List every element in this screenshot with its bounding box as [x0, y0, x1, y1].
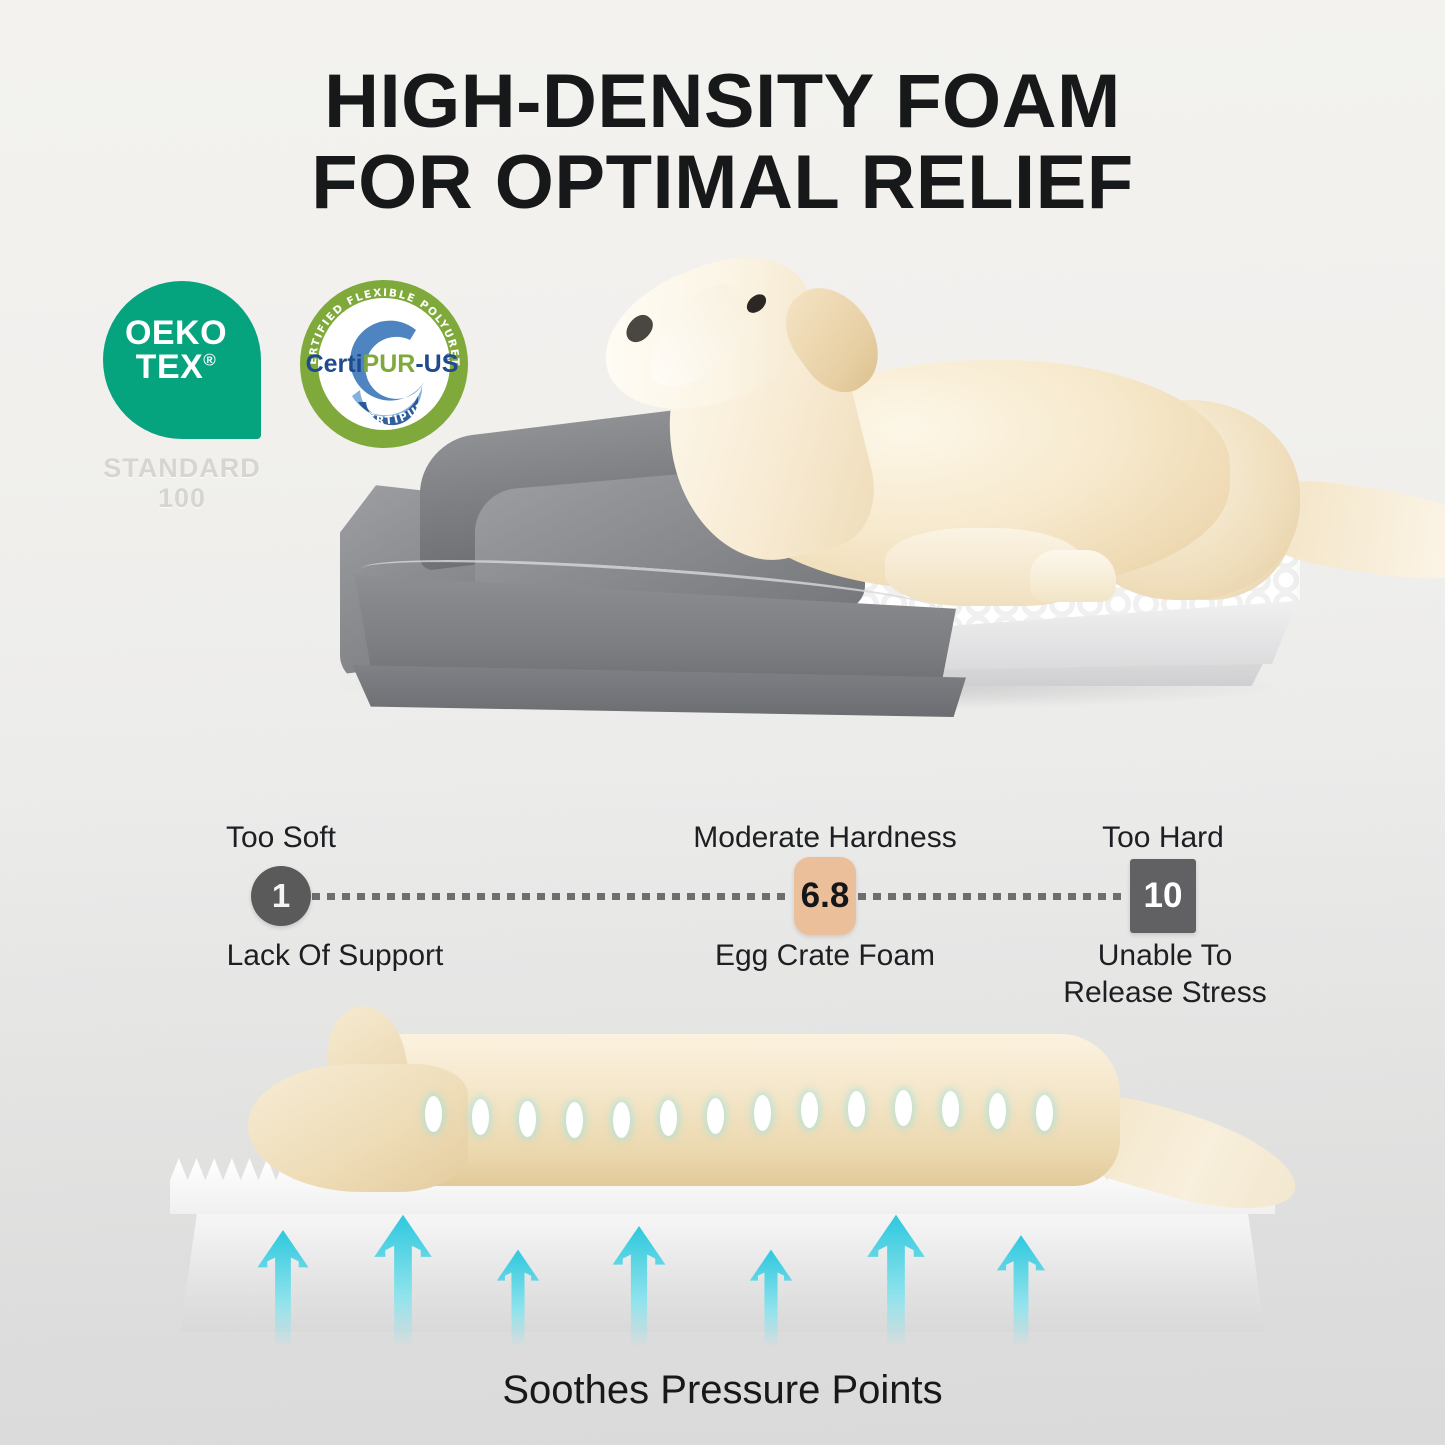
pressure-arrow — [495, 1248, 541, 1346]
scale-track-right — [858, 893, 1126, 900]
spine-dot — [801, 1092, 818, 1128]
pressure-arrow — [610, 1224, 668, 1346]
scale-top-label-too-hard: Too Hard — [1073, 821, 1253, 855]
headline-line-1: HIGH-DENSITY FOAM — [324, 59, 1121, 144]
pressure-relief-illustration — [150, 990, 1295, 1340]
scale-bottom-label-lack-of-support: Lack Of Support — [160, 937, 510, 974]
spine-dot — [848, 1091, 865, 1127]
pressure-arrow — [372, 1212, 434, 1346]
hero-dog-paw — [1030, 550, 1116, 602]
spine-dot — [895, 1090, 912, 1126]
scale-track-left — [312, 893, 790, 900]
page-title: HIGH-DENSITY FOAM FOR OPTIMAL RELIEF — [0, 62, 1445, 223]
pressure-arrow — [995, 1232, 1047, 1346]
spine-dot — [425, 1096, 442, 1132]
spine-dot — [472, 1099, 489, 1135]
hero-dog-nose — [621, 310, 657, 347]
hero-dog — [510, 250, 1300, 670]
oeko-standard-label: STANDARD 100 — [103, 453, 261, 513]
oeko-tex-droplet-icon: OEKO TEX® — [103, 281, 261, 439]
spine-dot — [754, 1095, 771, 1131]
spine-dot — [1036, 1095, 1053, 1131]
spine-dot — [660, 1100, 677, 1136]
product-infographic: HIGH-DENSITY FOAM FOR OPTIMAL RELIEF OEK… — [0, 0, 1445, 1445]
headline-line-2: FOR OPTIMAL RELIEF — [0, 143, 1445, 224]
hero-dog-muzzle — [634, 272, 762, 404]
scale-marker-1: 1 — [251, 866, 311, 926]
pressure-arrow — [865, 1212, 927, 1346]
scale-bottom-label-egg-crate-foam: Egg Crate Foam — [685, 937, 965, 974]
scale-marker-10: 10 — [1130, 859, 1196, 933]
oeko-standard-line-2: 100 — [158, 483, 206, 513]
spine-dot — [519, 1101, 536, 1137]
spine-dot — [707, 1098, 724, 1134]
spine-dot — [613, 1102, 630, 1138]
pressure-arrow — [748, 1248, 794, 1346]
hero-product-image — [300, 250, 1320, 790]
spine-pressure-dots — [220, 1000, 1230, 1215]
spine-dot — [942, 1091, 959, 1127]
scale-top-label-moderate-hardness: Moderate Hardness — [685, 821, 965, 855]
scale-marker-6-8: 6.8 — [794, 857, 856, 935]
oeko-registered-mark: ® — [203, 351, 216, 370]
bottom-dog — [220, 1000, 1230, 1215]
hardness-scale: Too Soft Moderate Hardness Too Hard 1 6.… — [0, 805, 1445, 1005]
oeko-line-2: TEX — [136, 348, 204, 386]
unable-line-1: Unable To — [1098, 939, 1233, 972]
oeko-tex-label: OEKO TEX® — [125, 316, 227, 384]
oeko-tex-badge: OEKO TEX® STANDARD 100 — [103, 281, 261, 513]
pressure-arrow — [255, 1228, 311, 1346]
bottom-caption: Soothes Pressure Points — [0, 1368, 1445, 1413]
spine-dot — [989, 1093, 1006, 1129]
scale-top-label-too-soft: Too Soft — [181, 821, 381, 855]
spine-dot — [566, 1102, 583, 1138]
oeko-line-1: OEKO — [125, 314, 227, 352]
oeko-standard-line-1: STANDARD — [103, 453, 261, 483]
